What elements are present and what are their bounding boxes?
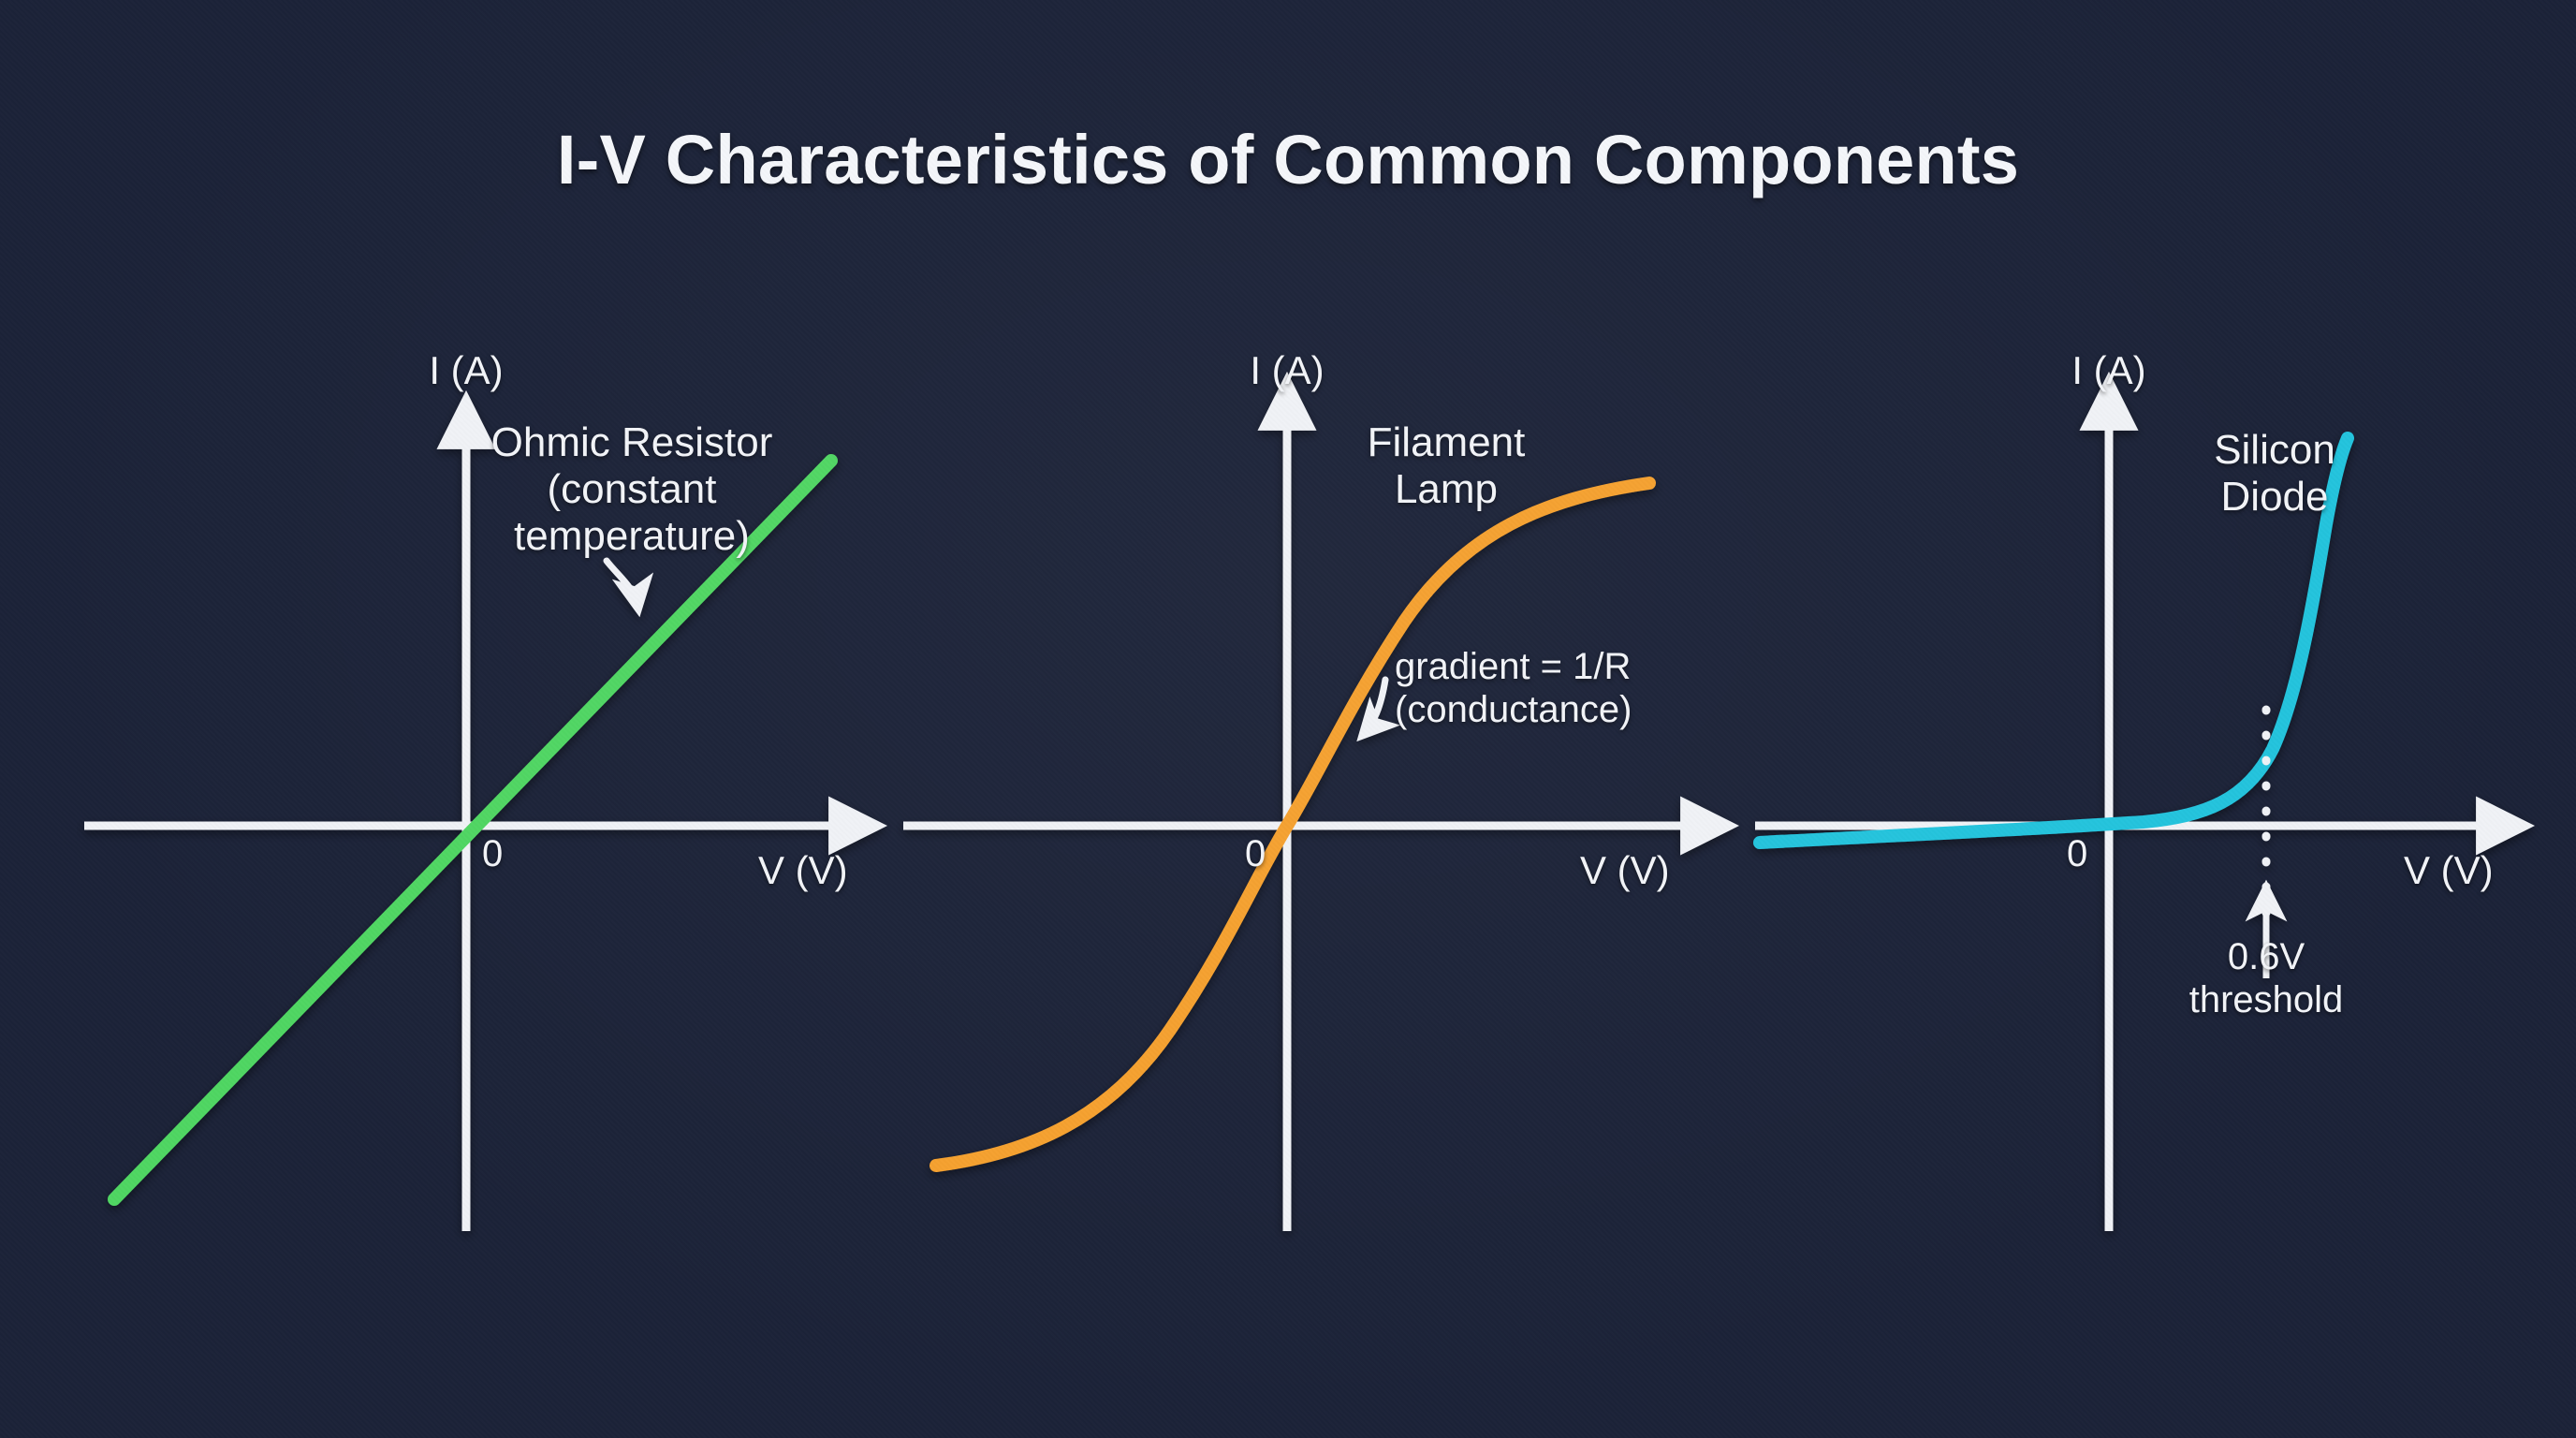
resistor-annotation-arrow bbox=[607, 561, 638, 609]
origin-label-panel3: 0 bbox=[2067, 833, 2087, 876]
origin-label-panel1: 0 bbox=[482, 833, 503, 876]
slide-canvas: I-V Characteristics of Common Components bbox=[0, 0, 2576, 1438]
page-title: I-V Characteristics of Common Components bbox=[0, 120, 2576, 199]
gradient-annotation-label: gradient = 1/R (conductance) bbox=[1395, 646, 1632, 731]
y-axis-label-panel1: I (A) bbox=[373, 348, 560, 393]
y-axis-label-panel3: I (A) bbox=[2015, 348, 2203, 393]
y-axis-label-panel2: I (A) bbox=[1193, 348, 1381, 393]
component-label-silicon-diode: Silicon Diode bbox=[2148, 427, 2401, 521]
iv-characteristics-figure bbox=[0, 0, 2576, 1438]
component-label-filament-lamp: Filament Lamp bbox=[1310, 419, 1582, 513]
threshold-annotation-label: 0.6V threshold bbox=[2126, 936, 2407, 1021]
x-axis-label-panel2: V (V) bbox=[1580, 848, 1670, 893]
x-axis-label-panel3: V (V) bbox=[2404, 848, 2494, 893]
x-axis-label-panel1: V (V) bbox=[758, 848, 848, 893]
panel-filament-lamp-axes bbox=[903, 421, 1690, 1231]
component-label-ohmic-resistor: Ohmic Resistor (constant temperature) bbox=[426, 419, 838, 560]
origin-label-panel2: 0 bbox=[1245, 833, 1266, 876]
